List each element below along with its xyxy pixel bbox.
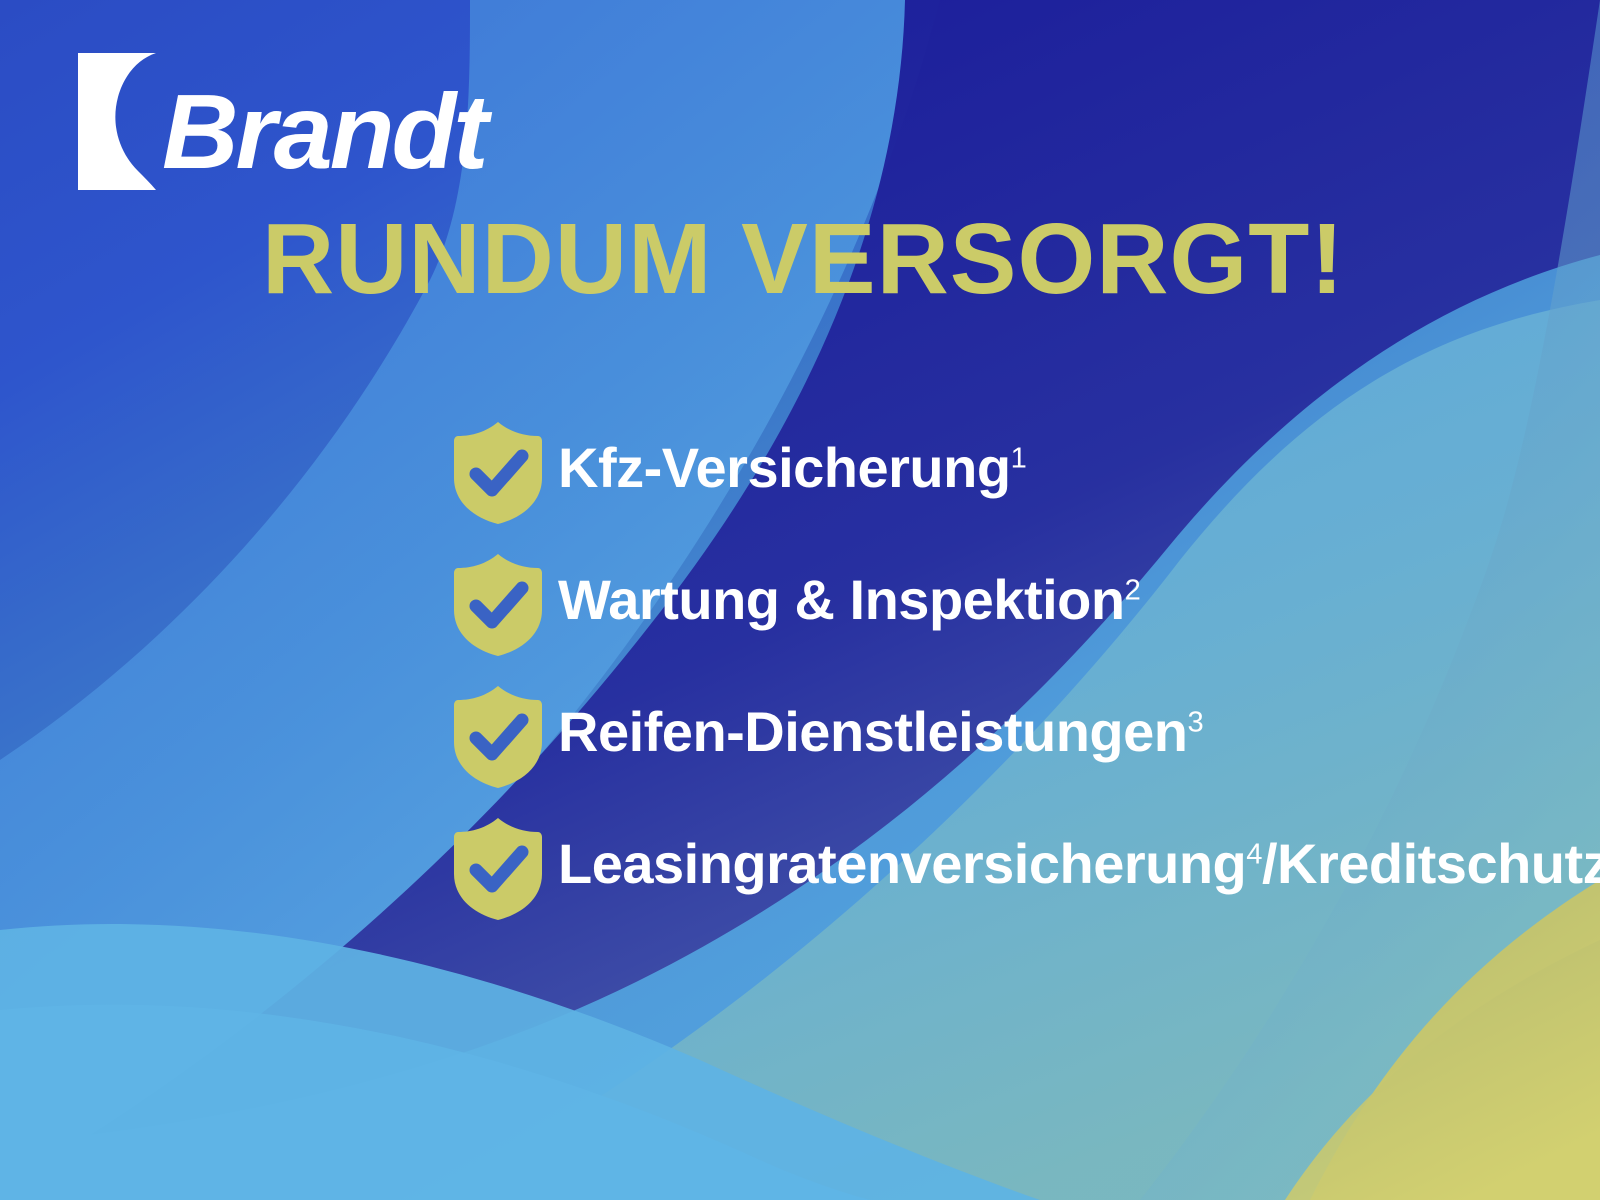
feature-label-text: Reifen-Dienstleistungen: [558, 700, 1187, 763]
shield-check-icon: [452, 816, 544, 922]
feature-label-text: Leasingratenversicherung: [558, 832, 1246, 895]
footnote-marker: 4: [1246, 838, 1262, 870]
list-item: Wartung & Inspektion2: [452, 550, 1512, 658]
footnote-marker: 3: [1187, 706, 1203, 738]
list-item-label: Leasingratenversicherung4/Kreditschutzbr…: [558, 814, 1568, 901]
feature-label-text-secondary: Kreditschutzbrief: [1277, 832, 1600, 895]
feature-separator: /: [1262, 832, 1277, 895]
list-item: Kfz-Versicherung1: [452, 418, 1512, 526]
footnote-marker: 1: [1011, 442, 1027, 474]
list-item-label: Kfz-Versicherung1: [558, 418, 1026, 505]
promotional-poster: Brandt RUNDUM VERSORGT! Kfz-Versicherung…: [0, 0, 1600, 1200]
footnote-marker: 2: [1125, 574, 1141, 606]
list-item: Leasingratenversicherung4/Kreditschutzbr…: [452, 814, 1512, 922]
list-item-label: Wartung & Inspektion2: [558, 550, 1140, 637]
list-item: Reifen-Dienstleistungen3: [452, 682, 1512, 790]
feature-list: Kfz-Versicherung1 Wartung & Inspektion2 …: [452, 418, 1512, 922]
shield-check-icon: [452, 684, 544, 790]
brand-wordmark: Brandt: [162, 79, 486, 185]
feature-label-text: Kfz-Versicherung: [558, 436, 1011, 499]
brand-logo[interactable]: Brandt: [78, 53, 486, 190]
shield-check-icon: [452, 552, 544, 658]
shield-check-icon: [452, 420, 544, 526]
page-title: RUNDUM VERSORGT!: [262, 207, 1345, 312]
bracket-crescent-logo-mark-icon: [78, 53, 156, 190]
list-item-label: Reifen-Dienstleistungen3: [558, 682, 1203, 769]
feature-label-text: Wartung & Inspektion: [558, 568, 1125, 631]
